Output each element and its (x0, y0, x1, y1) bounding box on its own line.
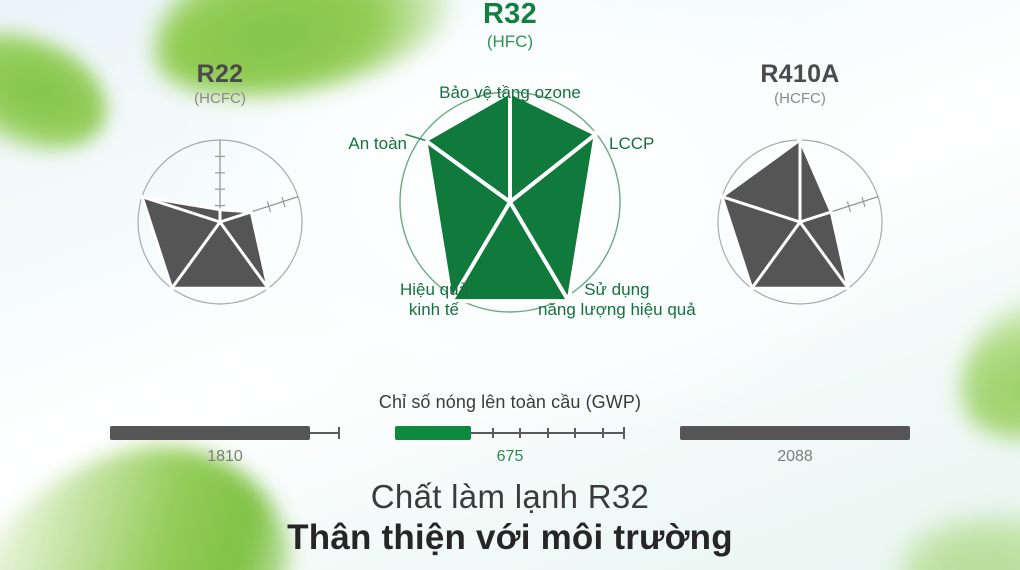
headline: Chất làm lạnh R32 Thân thiện với môi trư… (0, 478, 1020, 559)
radar-svg-r410a (700, 122, 900, 322)
radar-axis-label-energy: Sử dụng năng lượng hiệu quả (538, 280, 696, 319)
radar-svg-r22 (120, 122, 320, 322)
radar-axis-label-lccp: LCCP (609, 134, 654, 154)
poster-canvas: R22 (HCFC) (0, 0, 1020, 570)
radar-axis-label-energy-line2: năng lượng hiệu quả (538, 300, 696, 319)
gwp-bars-row: 1810 675 (0, 426, 1020, 486)
chart-title-r410a: R410A (HCFC) (700, 62, 900, 106)
gwp-bar-endcap (338, 427, 340, 439)
radar-axis-label-energy-line1: Sử dụng (584, 280, 649, 299)
radar-axis-label-ozone: Bảo vệ tầng ozone (439, 83, 581, 103)
gwp-bar-ticks (395, 428, 625, 438)
radar-axis-ticks (215, 156, 285, 212)
gwp-bar-r410a (680, 426, 910, 440)
leaf-decoration-left (0, 5, 124, 174)
gwp-bar-endcap (623, 427, 625, 439)
radar-axis-label-economy: Hiệu quả kinh tế (400, 280, 468, 319)
headline-line-1: Chất làm lạnh R32 (0, 478, 1020, 517)
chart-title-r22: R22 (HCFC) (120, 62, 320, 106)
radar-chart-r22 (120, 122, 320, 322)
gwp-item-r32: 675 (395, 426, 625, 466)
radar-axis-label-economy-line2: kinh tế (409, 300, 459, 319)
chart-title-r32: R32 (HFC) (330, 0, 690, 50)
gwp-section: Chỉ số nóng lên toàn cầu (GWP) 1810 (0, 392, 1020, 413)
chart-name-r410a: R410A (700, 62, 900, 87)
gwp-item-r22: 1810 (110, 426, 340, 466)
radar-panel-r32: R32 (HFC) Bảo vệ tầng ozone LCCP (330, 0, 690, 320)
chart-name-r22: R22 (120, 62, 320, 87)
gwp-bar-r32 (395, 426, 625, 440)
gwp-bar-ticks (110, 428, 340, 438)
radar-chart-r410a (700, 122, 900, 322)
gwp-bar-r22 (110, 426, 340, 440)
radar-axis-label-economy-line1: Hiệu quả (400, 280, 468, 299)
chart-subtitle-r32: (HFC) (330, 33, 690, 50)
radar-panel-r22: R22 (HCFC) (120, 62, 320, 322)
gwp-value-r410a: 2088 (680, 448, 910, 466)
gwp-value-r22: 1810 (110, 448, 340, 466)
radar-chart-r32: Bảo vệ tầng ozone LCCP An toàn Hiệu (330, 84, 690, 320)
chart-name-r32: R32 (330, 0, 690, 29)
radar-axis-label-safety: An toàn (348, 134, 407, 154)
gwp-bar-ticks (680, 428, 910, 438)
gwp-item-r410a: 2088 (680, 426, 910, 466)
headline-line-2: Thân thiện với môi trường (0, 517, 1020, 559)
gwp-title: Chỉ số nóng lên toàn cầu (GWP) (0, 392, 1020, 413)
radar-panel-r410a: R410A (HCFC) (700, 62, 900, 322)
radar-polygon-r410a (722, 140, 848, 288)
chart-subtitle-r22: (HCFC) (120, 91, 320, 106)
gwp-value-r32: 675 (395, 448, 625, 466)
chart-subtitle-r410a: (HCFC) (700, 91, 900, 106)
